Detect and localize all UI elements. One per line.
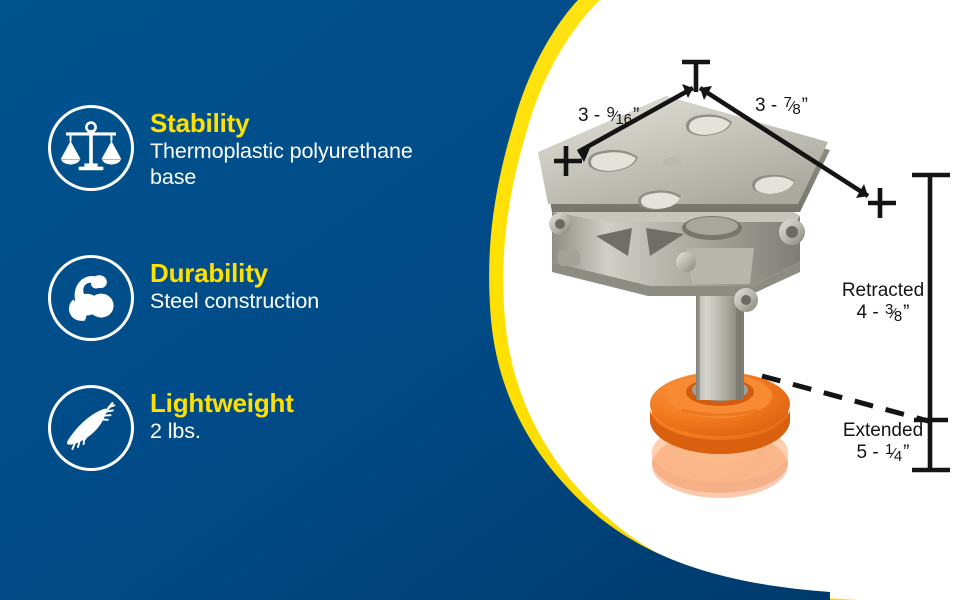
fraction-one-quarter: 1⁄4	[884, 445, 903, 462]
feature-description: Thermoplastic polyurethane base	[150, 138, 413, 190]
feature-description: 2 lbs.	[150, 418, 294, 444]
retracted-value: 4 - 3⁄8”	[825, 302, 941, 324]
product-dimension-diagram: 3 - 9⁄16” 3 - 7⁄8” Retracted 4 - 3⁄8” Ex…	[500, 0, 970, 600]
fraction-three-eighths: 3⁄8	[884, 305, 903, 322]
fraction-seven-eighths: 7⁄8	[782, 98, 801, 115]
balance-scale-icon	[48, 105, 134, 191]
feature-list: Stability Thermoplastic polyurethane bas…	[0, 0, 500, 600]
feature-text-lightweight: Lightweight 2 lbs.	[150, 385, 294, 444]
feature-item-lightweight: Lightweight 2 lbs.	[48, 385, 294, 471]
feature-title: Lightweight	[150, 389, 294, 418]
feature-item-stability: Stability Thermoplastic polyurethane bas…	[48, 105, 413, 191]
feature-item-durability: Durability Steel construction	[48, 255, 319, 341]
dimension-label-retracted: Retracted 4 - 3⁄8”	[825, 280, 941, 324]
dimension-label-plate-width: 3 - 7⁄8”	[755, 95, 808, 117]
feature-text-durability: Durability Steel construction	[150, 255, 319, 314]
retracted-caption: Retracted	[825, 280, 941, 302]
feature-text-stability: Stability Thermoplastic polyurethane bas…	[150, 105, 413, 191]
feature-title: Durability	[150, 259, 319, 288]
extended-value: 5 - 1⁄4”	[825, 442, 941, 464]
flexed-bicep-icon	[48, 255, 134, 341]
dimension-label-extended: Extended 5 - 1⁄4”	[825, 420, 941, 464]
feather-icon	[48, 385, 134, 471]
extended-caption: Extended	[825, 420, 941, 442]
feature-title: Stability	[150, 109, 413, 138]
fraction-nine-sixteenths: 9⁄16	[605, 108, 633, 125]
infographic-canvas: Stability Thermoplastic polyurethane bas…	[0, 0, 970, 600]
feature-description: Steel construction	[150, 288, 319, 314]
dimension-label-plate-depth: 3 - 9⁄16”	[578, 105, 639, 127]
